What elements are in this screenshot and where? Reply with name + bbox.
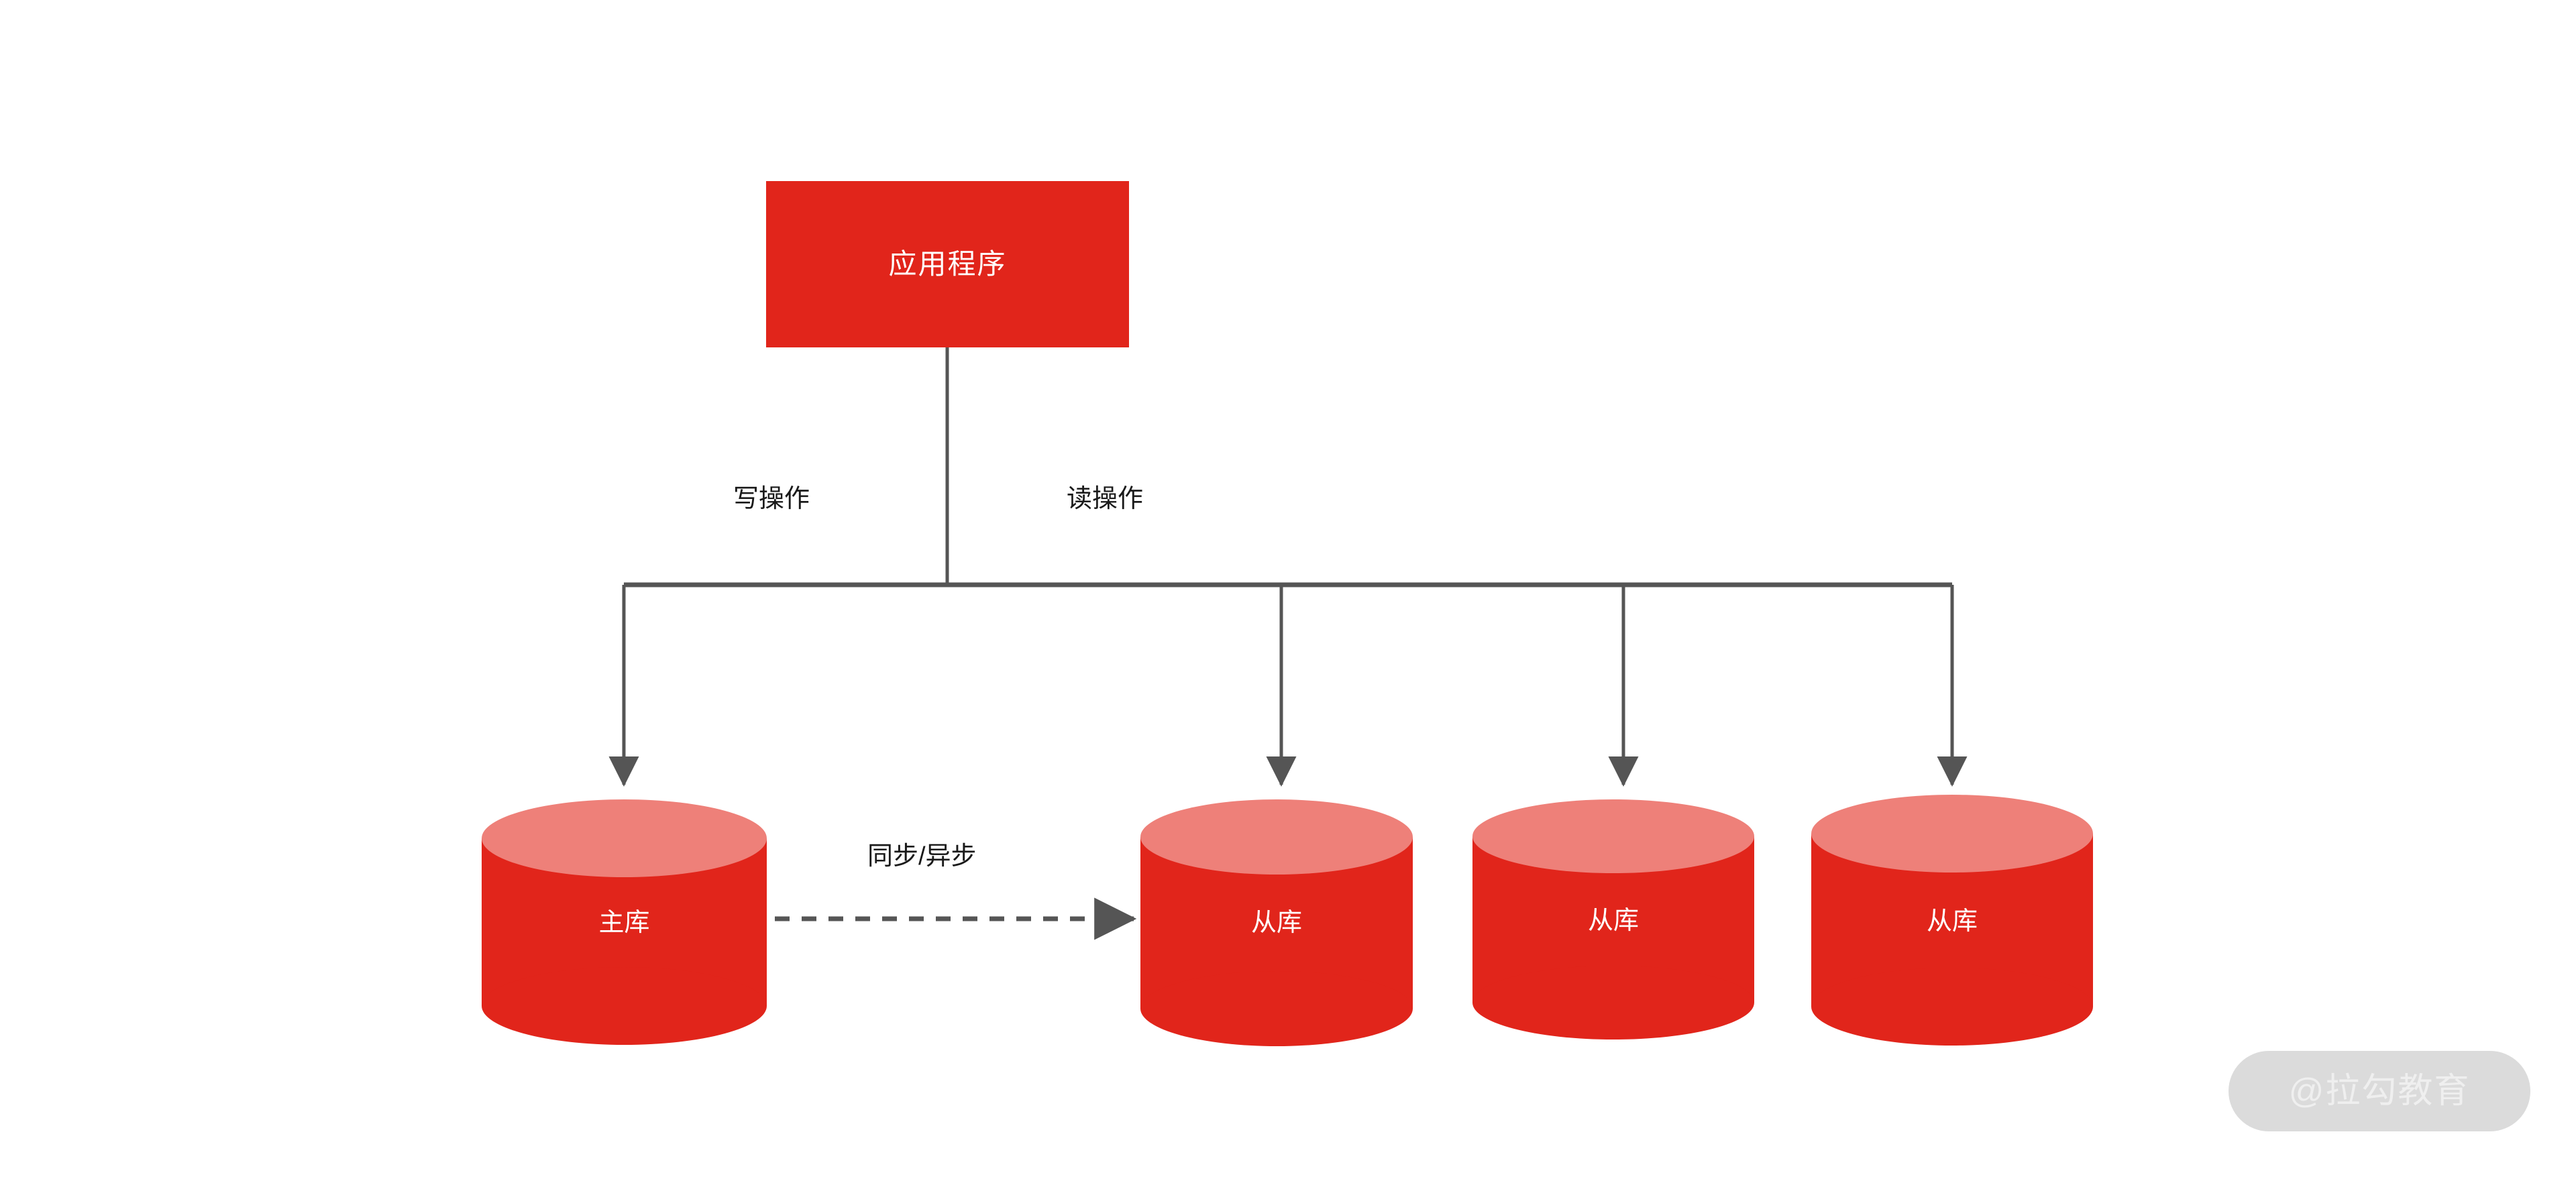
cylinder-bottom <box>1811 968 2093 1046</box>
node-database-master[interactable]: 主库 <box>482 799 767 1025</box>
watermark-label: @拉勾教育 <box>2289 1074 2471 1109</box>
node-database-slave-3-label: 从库 <box>1811 909 2093 934</box>
node-database-master-label: 主库 <box>482 910 767 936</box>
edge-label-replication: 同步/异步 <box>867 844 977 869</box>
node-application-label: 应用程序 <box>888 250 1006 278</box>
node-database-slave-2-label: 从库 <box>1472 908 1754 934</box>
watermark-badge: @拉勾教育 <box>2229 1051 2530 1131</box>
cylinder-top <box>1140 799 1413 875</box>
node-database-slave-1[interactable]: 从库 <box>1140 799 1413 1029</box>
node-database-slave-1-label: 从库 <box>1140 910 1413 936</box>
node-database-slave-3[interactable]: 从库 <box>1811 795 2093 1026</box>
node-application[interactable]: 应用程序 <box>766 181 1129 347</box>
diagram-canvas: 应用程序 写操作 读操作 同步/异步 主库 <box>0 0 2576 1181</box>
cylinder-top <box>482 799 767 877</box>
cylinder-top <box>1811 795 2093 873</box>
node-database-slave-2[interactable]: 从库 <box>1472 799 1754 1021</box>
cylinder-bottom <box>1140 971 1413 1046</box>
cylinder-bottom <box>1472 966 1754 1039</box>
cylinder-top <box>1472 799 1754 873</box>
edge-label-read: 读操作 <box>1067 486 1143 512</box>
cylinder-bottom <box>482 967 767 1045</box>
edge-label-write: 写操作 <box>733 486 810 512</box>
